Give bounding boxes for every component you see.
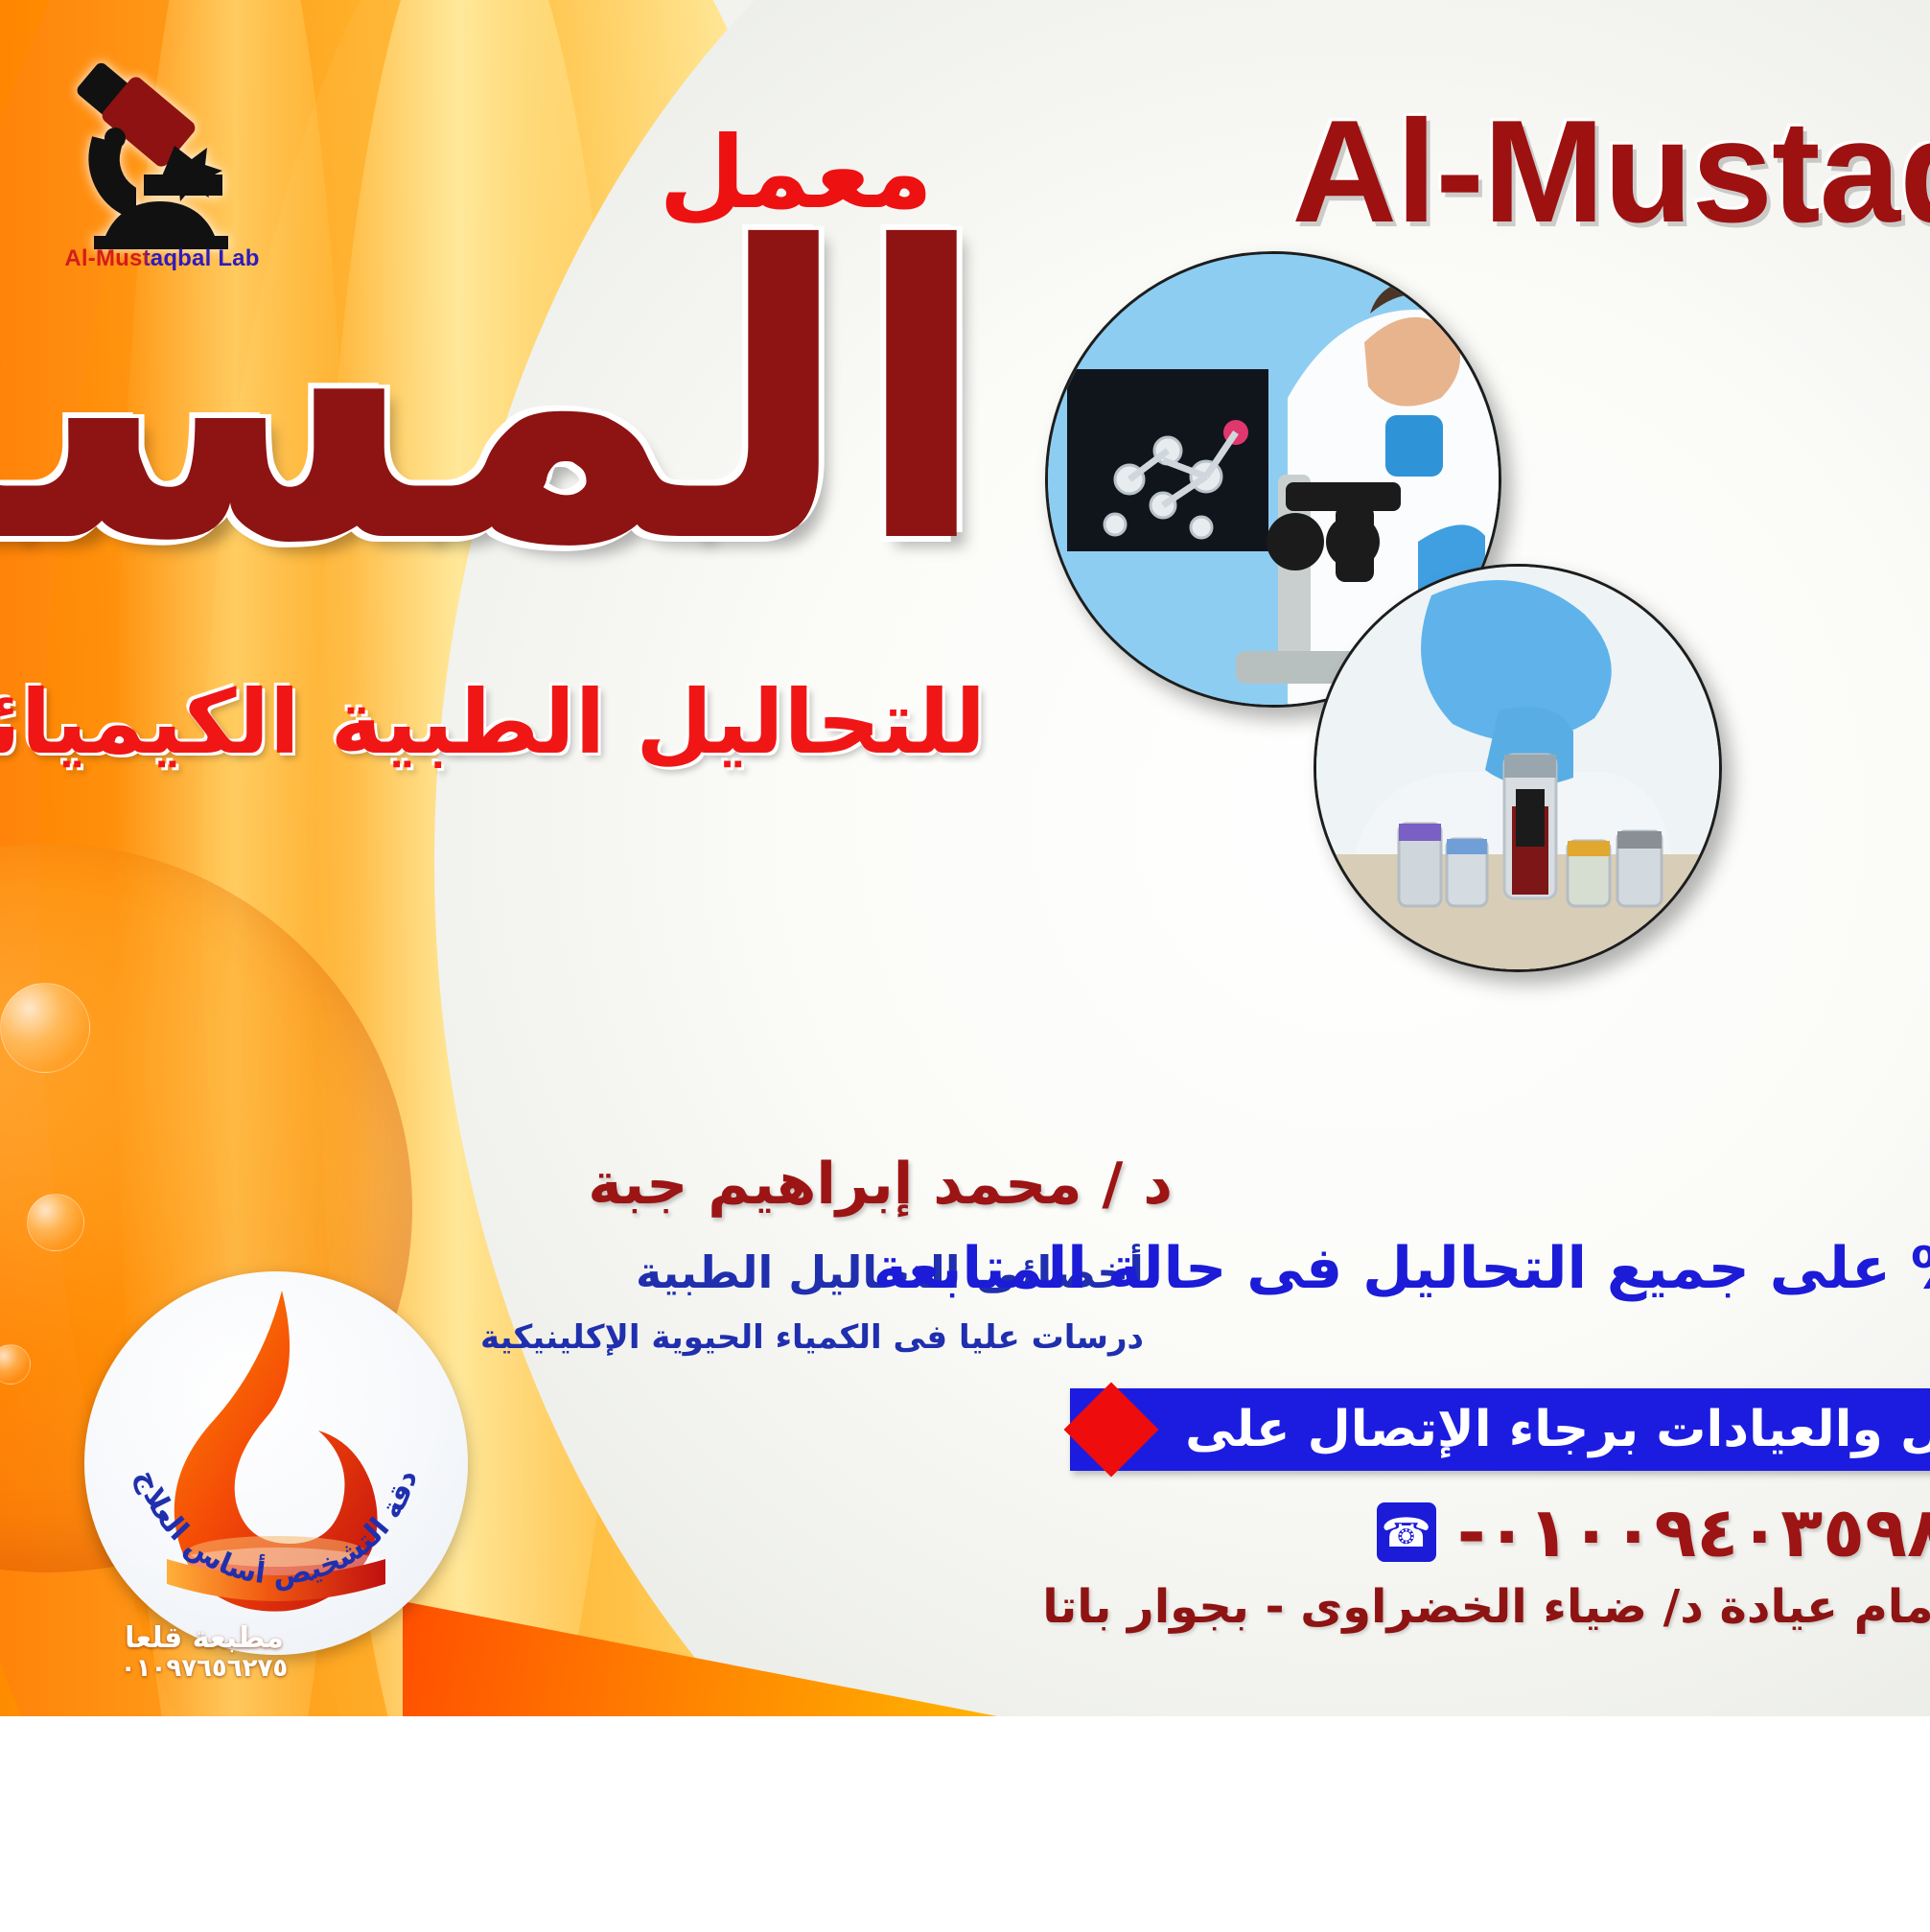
discount-line: % على جميع التحاليل فى حالة المتابعة bbox=[873, 1235, 1930, 1302]
telephone-icon: ☎ bbox=[1377, 1502, 1436, 1562]
printed-card: Al-Mustaqbal Lab معمل Al-Mustaq المستقبل… bbox=[0, 0, 1930, 1716]
discount-text: % على جميع التحاليل فى حالة المتابعة bbox=[873, 1235, 1930, 1302]
slogan-badge: دقة التشخيص أساس العلاج دقة التشخيص أساس… bbox=[84, 1271, 468, 1655]
brand-name-english: Al-Mustaq bbox=[1291, 88, 1930, 256]
decorative-bubble bbox=[0, 983, 90, 1073]
printer-phone: ٠١٠٩٧٦٥٦٢٧٥ bbox=[75, 1654, 334, 1683]
blood-tubes-photo bbox=[1314, 564, 1722, 972]
phone-row[interactable]: ☎ ٠١٠٠٩٤٠٣٥٩٨- bbox=[1377, 1492, 1930, 1572]
diamond-icon bbox=[1064, 1383, 1159, 1478]
brand-name-arabic: المستقبل bbox=[0, 206, 990, 589]
bottom-white-strip bbox=[0, 1716, 1930, 1932]
doctor-studies: درسات عليا فى الكمياء الحيوية الإكلينيكي… bbox=[480, 1318, 1144, 1357]
call-banner-text: ل والعيادات برجاء الإتصال على bbox=[1185, 1401, 1930, 1458]
address-line: أمام عيادة د/ ضياء الخضراوى - بجوار باتا bbox=[1042, 1580, 1930, 1634]
poster-canvas: Al-Mustaqbal Lab معمل Al-Mustaq المستقبل… bbox=[0, 0, 1930, 1932]
printer-name: مطبعة قلعا bbox=[75, 1622, 334, 1654]
phone-number: ٠١٠٠٩٤٠٣٥٩٨- bbox=[1457, 1492, 1930, 1572]
printer-credit: مطبعة قلعا ٠١٠٩٧٦٥٦٢٧٥ bbox=[75, 1622, 334, 1683]
brand-subtitle: للتحاليل الطبية الكيميائية bbox=[0, 671, 986, 774]
decorative-bubble bbox=[27, 1194, 84, 1251]
doctor-name: د / محمد إبراهيم جبة bbox=[588, 1151, 1173, 1218]
call-banner: ل والعيادات برجاء الإتصال على bbox=[1070, 1388, 1930, 1471]
